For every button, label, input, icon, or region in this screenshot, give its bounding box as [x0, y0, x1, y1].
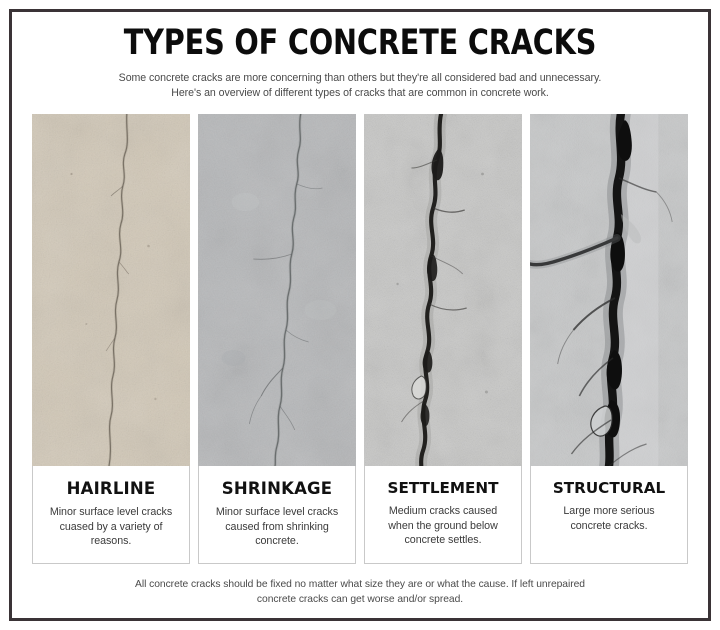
- caption-body-shrinkage: Minor surface level cracks caused from s…: [207, 505, 347, 549]
- page-title: TYPES OF CONCRETE CRACKS: [89, 23, 630, 63]
- caption-shrinkage: SHRINKAGE Minor surface level cracks cau…: [198, 466, 356, 564]
- crack-type-card-hairline: HAIRLINE Minor surface level cracks cuas…: [32, 114, 190, 564]
- crack-type-card-shrinkage: SHRINKAGE Minor surface level cracks cau…: [198, 114, 356, 564]
- caption-body-hairline: Minor surface level cracks cuased by a v…: [41, 505, 181, 549]
- caption-title-structural: STRUCTURAL: [539, 479, 679, 497]
- footer-line-1: All concrete cracks should be fixed no m…: [135, 579, 585, 590]
- caption-title-shrinkage: SHRINKAGE: [207, 479, 347, 498]
- hairline-crack-photo: [32, 114, 190, 466]
- caption-hairline: HAIRLINE Minor surface level cracks cuas…: [32, 466, 190, 564]
- caption-body-structural: Large more serious concrete cracks.: [539, 504, 679, 533]
- caption-body-settlement: Medium cracks caused when the ground bel…: [373, 504, 513, 548]
- crack-type-card-settlement: SETTLEMENT Medium cracks caused when the…: [364, 114, 522, 564]
- caption-body-line-2: when the ground below: [388, 520, 497, 532]
- caption-settlement: SETTLEMENT Medium cracks caused when the…: [364, 466, 522, 564]
- caption-body-line-1: Minor surface level cracks: [216, 506, 338, 518]
- caption-structural: STRUCTURAL Large more serious concrete c…: [530, 466, 688, 564]
- caption-body-line-1: Medium cracks caused: [389, 505, 497, 517]
- caption-body-line-2: concrete cracks.: [570, 520, 647, 532]
- page-footer: All concrete cracks should be fixed no m…: [60, 578, 660, 607]
- infographic-poster: TYPES OF CONCRETE CRACKS Some concrete c…: [0, 0, 720, 630]
- shrinkage-crack-photo: [198, 114, 356, 466]
- caption-body-line-1: Large more serious: [563, 505, 654, 517]
- caption-body-line-1: Minor surface level cracks: [50, 506, 172, 518]
- crack-type-card-structural: STRUCTURAL Large more serious concrete c…: [530, 114, 688, 564]
- caption-body-line-3: concrete.: [255, 535, 299, 547]
- structural-crack-photo: [530, 114, 688, 466]
- page-subtitle: Some concrete cracks are more concerning…: [45, 71, 675, 101]
- footer-line-2: concrete cracks can get worse and/or spr…: [257, 594, 463, 605]
- caption-body-line-2: caused from shrinking: [225, 521, 329, 533]
- poster-frame: TYPES OF CONCRETE CRACKS Some concrete c…: [9, 9, 711, 621]
- subtitle-line-1: Some concrete cracks are more concerning…: [119, 72, 602, 84]
- crack-type-card-grid: HAIRLINE Minor surface level cracks cuas…: [30, 114, 690, 564]
- caption-body-line-2: cuased by a variety of: [60, 521, 163, 533]
- caption-title-settlement: SETTLEMENT: [373, 479, 513, 497]
- subtitle-line-2: Here's an overview of different types of…: [171, 87, 549, 99]
- caption-body-line-3: reasons.: [91, 535, 132, 547]
- settlement-crack-photo: [364, 114, 522, 466]
- caption-body-line-3: concrete settles.: [405, 534, 482, 546]
- caption-title-hairline: HAIRLINE: [41, 479, 181, 498]
